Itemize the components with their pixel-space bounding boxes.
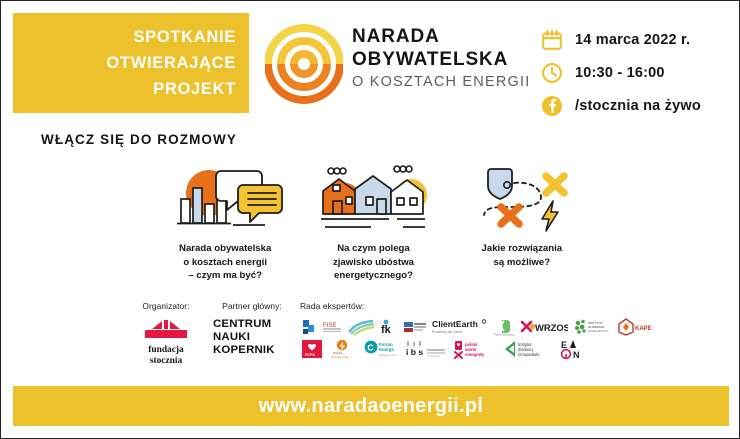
badge-line-3: PROJEKT [106, 76, 236, 102]
fala-renowacji-logo-icon: Fala Renowacji [493, 317, 515, 337]
fundacja-stocznia-logo-icon [128, 317, 204, 343]
pcps-logo-icon: PCPS [300, 339, 324, 359]
badge-line-1: SPOTKANIE [106, 24, 236, 50]
main-partner-name-line-3: KOPERNIK [213, 344, 295, 357]
topic-card-1-caption: Narada obywatelska o kosztach energii – … [179, 242, 271, 283]
svg-text:KAPE: KAPE [635, 326, 652, 332]
badge-line-2: OTWIERAJĄCE [106, 50, 236, 76]
houses-row-icon [311, 163, 435, 233]
svg-text:PCPS: PCPS [305, 353, 315, 357]
website-url[interactable]: www.naradaoenergii.pl [259, 395, 484, 418]
facebook-icon[interactable] [541, 95, 563, 117]
caption-line: Na czym polega [333, 242, 414, 256]
experts-logo-grid: FISE [300, 316, 730, 360]
forum-energii-logo-icon [403, 317, 427, 337]
main-partner-name-line-2: NAUKI [213, 331, 295, 344]
header: SPOTKANIE OTWIERAJĄCE PROJEKT [1, 1, 740, 127]
caption-line: Narada obywatelska [179, 242, 271, 256]
experts-logo-row-2: PCPS Polska Energia Cała [300, 338, 730, 360]
info-date-text: 14 marca 2022 r. [575, 32, 690, 48]
topic-card-2: Na czym polega zjawisko ubóstwa energety… [299, 163, 447, 283]
experts-label: Rada ekspertów: [300, 301, 730, 311]
experts-block: Rada ekspertów: FISE [300, 301, 730, 360]
topic-cards: Narada obywatelska o kosztach energii – … [151, 163, 596, 283]
logo-line-3: O KOSZTACH ENERGII [352, 74, 530, 90]
calendar-icon [541, 29, 563, 51]
topic-card-2-caption: Na czym polega zjawisko ubóstwa energety… [333, 242, 414, 283]
cake-logo-icon [300, 317, 317, 337]
concentric-arcs-logo-icon [265, 19, 343, 105]
caption-line: Jakie rozwiązania [482, 242, 563, 256]
info-time-text: 10:30 - 16:00 [575, 65, 665, 81]
svg-text:Energii: Energii [379, 347, 394, 352]
fk-logo-icon: fk [380, 317, 398, 337]
caption-line: – czym ma być? [179, 269, 271, 283]
svg-text:Prawnicy dla Ziemi: Prawnicy dla Ziemi [432, 330, 462, 334]
event-badge: SPOTKANIE OTWIERAJĄCE PROJEKT [13, 13, 249, 113]
chart-speech-bubbles-icon [161, 163, 289, 233]
info-row-time: 10:30 - 16:00 [541, 56, 701, 89]
fise-logo-icon: FISE [322, 317, 342, 337]
topic-card-3-caption: Jakie rozwiązania są możliwe? [482, 242, 563, 269]
kape-logo-icon: KAPE [618, 317, 652, 337]
svg-text:E: E [561, 340, 567, 350]
centrum-nauki-kopernik-logo-icon: CENTRUM NAUKI KOPERNIK [209, 318, 295, 357]
svg-text:WRZOS: WRZOS [535, 322, 568, 333]
experts-logo-row-1: FISE [300, 316, 730, 338]
organizer-name-line-2: stocznia [128, 356, 204, 367]
svg-text:Energy Forum: Energy Forum [379, 353, 397, 357]
partners-section: Organizator: fundacja stocznia Partner g… [1, 297, 740, 379]
svg-text:C: C [367, 343, 373, 353]
clock-icon [541, 62, 563, 84]
svg-text:Energia Cała: Energia Cała [331, 355, 349, 359]
svg-text:Fala Renowacji: Fala Renowacji [494, 333, 515, 337]
polska-energia-logo-icon: Polska Energia Cała [329, 339, 359, 359]
shield-path-bolt-icon [467, 163, 577, 233]
main-partner-label: Partner główny: [209, 301, 295, 311]
ibs-logo-icon: i b s [405, 339, 447, 359]
svg-text:ENERGETYKA: ENERGETYKA [588, 329, 609, 333]
main-partner-name-line-1: CENTRUM [213, 318, 295, 331]
wrzos-logo-icon: WRZOS [520, 317, 568, 337]
main-partner-block: Partner główny: CENTRUM NAUKI KOPERNIK [209, 301, 295, 357]
topic-card-3: Jakie rozwiązania są możliwe? [448, 163, 596, 283]
forum-energii-2-logo-icon: C Forum Energii Energy Forum [364, 339, 400, 359]
caption-line: zjawisko ubóstwa [333, 256, 414, 270]
wave-logo-icon [347, 317, 375, 337]
instytut-logo-icon: INSTYTUT W MIEŚCIE ENERGETYKA [573, 317, 613, 337]
caption-line: o kosztach energii [179, 256, 271, 270]
svg-text:smogowy: smogowy [465, 352, 485, 357]
topic-card-1: Narada obywatelska o kosztach energii – … [151, 163, 299, 283]
polski-alarm-smogowy-logo-icon: polski alarm smogowy [452, 339, 498, 359]
info-row-facebook[interactable]: /stocznia na żywo [541, 89, 701, 122]
clientearth-logo-icon: ClientEarth Prawnicy dla Ziemi [432, 317, 488, 337]
logo-wordmark: NARADA OBYWATELSKA O KOSZTACH ENERGII [352, 25, 530, 90]
svg-text:ClientEarth: ClientEarth [432, 319, 478, 329]
footer-url-bar[interactable]: www.naradaoenergii.pl [13, 386, 729, 426]
poster-root: SPOTKANIE OTWIERAJĄCE PROJEKT [0, 0, 740, 439]
section-kicker: WŁĄCZ SIĘ DO ROZMOWY [41, 132, 237, 147]
organizer-block: Organizator: fundacja stocznia [128, 301, 204, 367]
event-info-list: 14 marca 2022 r. 10:30 - 16:00 [541, 23, 701, 122]
svg-text:fk: fk [381, 324, 392, 336]
svg-text:Gospodarki: Gospodarki [518, 352, 539, 357]
instytut-zielonej-gospodarki-logo-icon: Instytut Zielonej Gospodarki [503, 339, 555, 359]
info-row-date: 14 marca 2022 r. [541, 23, 701, 56]
caption-line: są możliwe? [482, 256, 563, 270]
svg-text:N: N [573, 350, 580, 359]
logo-line-2: OBYWATELSKA [352, 48, 530, 71]
organizer-name-line-1: fundacja [128, 345, 204, 356]
logo-line-1: NARADA [352, 25, 530, 48]
svg-text:i b s: i b s [406, 347, 423, 357]
caption-line: energetycznego? [333, 269, 414, 283]
info-facebook-text[interactable]: /stocznia na żywo [575, 98, 701, 114]
organizer-label: Organizator: [128, 301, 204, 311]
ean-logo-icon: E N [560, 339, 590, 359]
svg-text:FISE: FISE [323, 323, 336, 329]
